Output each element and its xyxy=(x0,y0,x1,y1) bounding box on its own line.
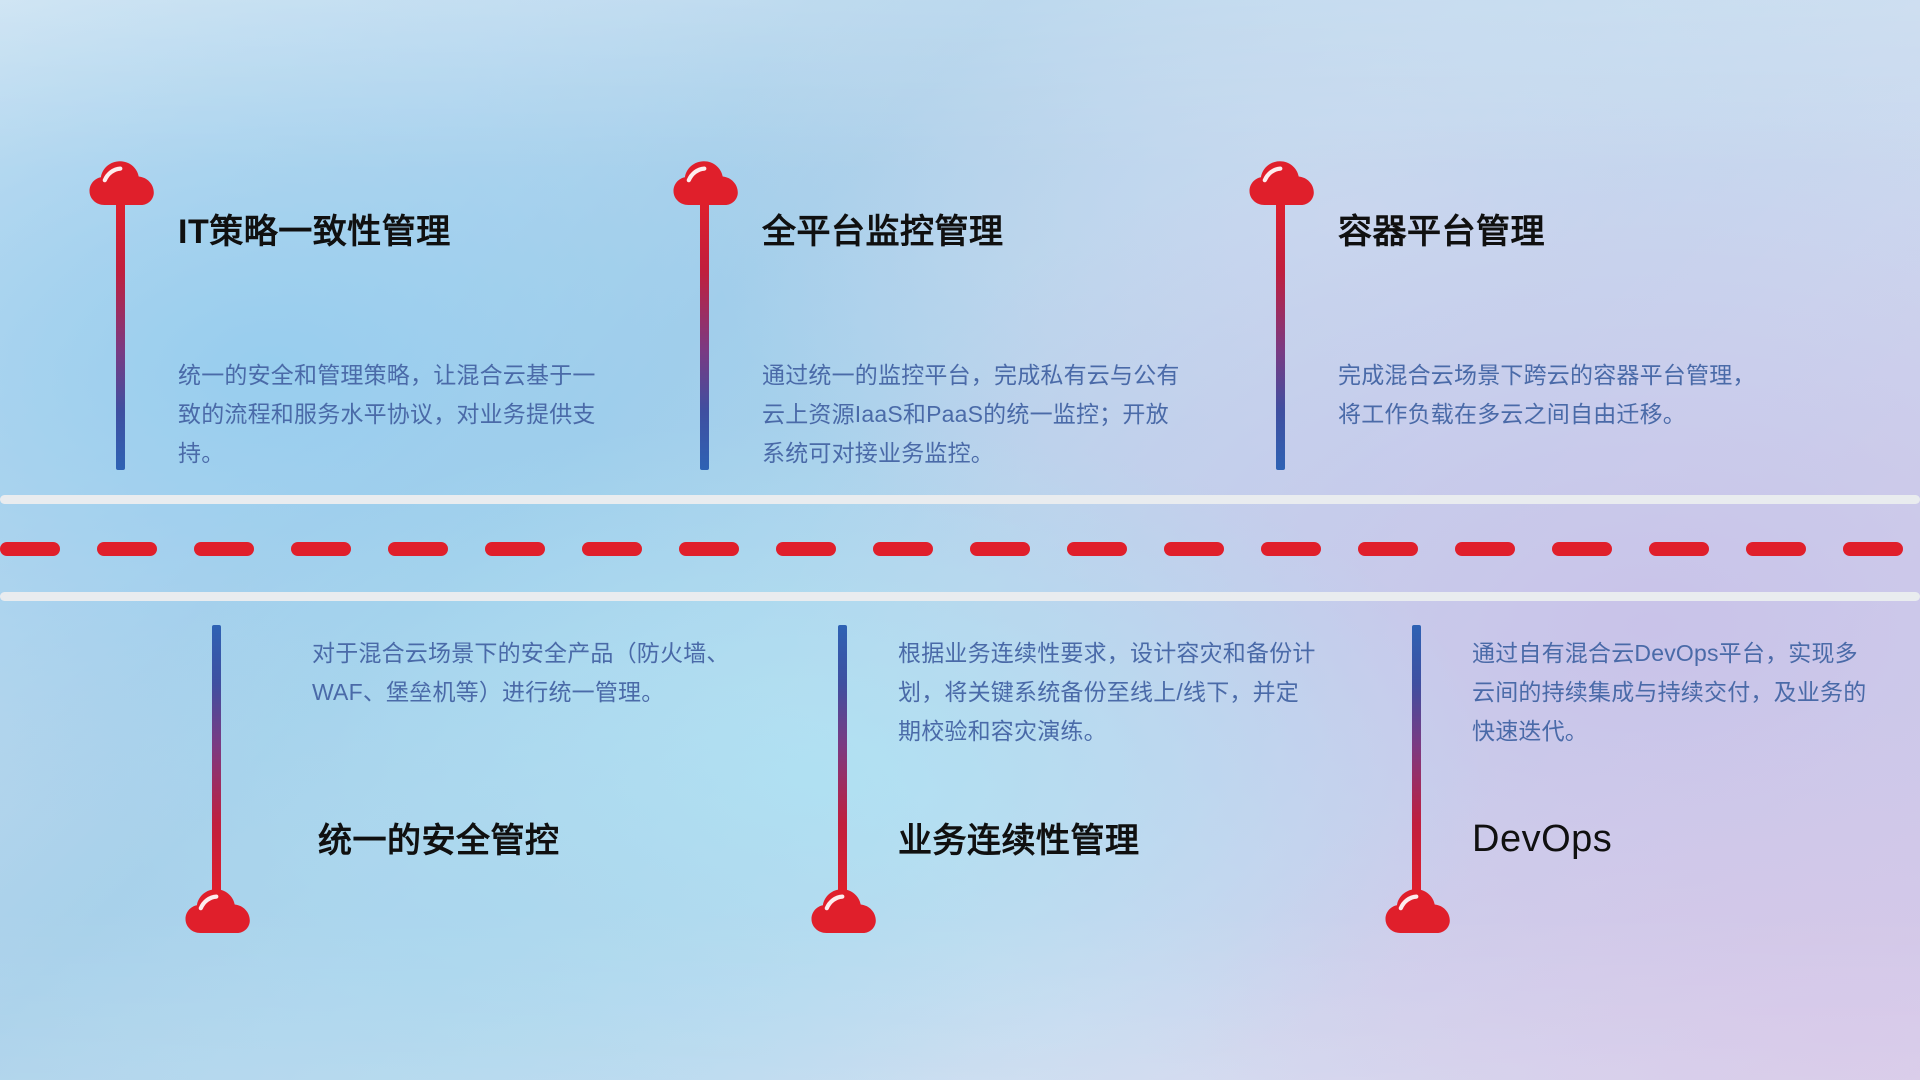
card-heading-bottom-2: 业务连续性管理 xyxy=(898,824,1140,858)
background-glow-bottom-left xyxy=(0,0,1920,1080)
card-heading-bottom-1: 统一的安全管控 xyxy=(318,824,560,858)
road-dash xyxy=(194,542,254,556)
road-edge-top-line xyxy=(0,495,1920,504)
card-heading-top-1: IT策略一致性管理 xyxy=(178,215,451,249)
pin-stem xyxy=(116,202,125,470)
background-glow-right xyxy=(0,0,1920,1080)
road-edge-bottom-line xyxy=(0,592,1920,601)
card-body-bottom-3: 通过自有混合云DevOps平台，实现多云间的持续集成与持续交付，及业务的快速迭代… xyxy=(1472,634,1872,751)
cloud-icon xyxy=(672,160,740,206)
pin-stem xyxy=(1412,625,1421,893)
road-dash xyxy=(97,542,157,556)
cloud-icon xyxy=(184,888,252,934)
cloud-icon xyxy=(1384,888,1452,934)
infographic-canvas: IT策略一致性管理 统一的安全和管理策略，让混合云基于一致的流程和服务水平协议，… xyxy=(0,0,1920,1080)
card-body-bottom-1: 对于混合云场景下的安全产品（防火墙、WAF、堡垒机等）进行统一管理。 xyxy=(312,634,732,712)
road-dash xyxy=(1649,542,1709,556)
road-dash xyxy=(388,542,448,556)
road-dash xyxy=(970,542,1030,556)
background-glow-bottom-right xyxy=(0,0,1920,1080)
background-glow-center xyxy=(0,0,1920,1080)
cloud-icon xyxy=(88,160,156,206)
road-dash xyxy=(291,542,351,556)
card-body-top-3: 完成混合云场景下跨云的容器平台管理，将工作负载在多云之间自由迁移。 xyxy=(1338,356,1763,434)
card-body-top-2: 通过统一的监控平台，完成私有云与公有云上资源IaaS和PaaS的统一监控；开放系… xyxy=(762,356,1187,473)
road-dash xyxy=(679,542,739,556)
background-base-gradient xyxy=(0,0,1920,1080)
road-dash xyxy=(1746,542,1806,556)
road-dash xyxy=(1164,542,1224,556)
road-dash xyxy=(1455,542,1515,556)
card-body-bottom-2: 根据业务连续性要求，设计容灾和备份计划，将关键系统备份至线上/线下，并定期校验和… xyxy=(898,634,1318,751)
road-dash xyxy=(776,542,836,556)
card-heading-top-3: 容器平台管理 xyxy=(1338,215,1545,249)
cloud-icon xyxy=(810,888,878,934)
road-dash xyxy=(485,542,545,556)
road-dash xyxy=(873,542,933,556)
background-vignette xyxy=(0,0,1920,1080)
pin-stem xyxy=(1276,202,1285,470)
road-dash xyxy=(1067,542,1127,556)
background-glow-top-right xyxy=(0,0,1920,1080)
road-dash xyxy=(1843,542,1903,556)
road-dashed-center-line xyxy=(0,542,1920,556)
background-glow-left xyxy=(0,0,1920,1080)
pin-stem xyxy=(700,202,709,470)
road-dash xyxy=(1358,542,1418,556)
cloud-icon xyxy=(1248,160,1316,206)
card-heading-top-2: 全平台监控管理 xyxy=(762,215,1004,249)
road-dash xyxy=(1261,542,1321,556)
road-dash xyxy=(1552,542,1612,556)
road-dash xyxy=(582,542,642,556)
card-body-top-1: 统一的安全和管理策略，让混合云基于一致的流程和服务水平协议，对业务提供支持。 xyxy=(178,356,598,473)
pin-stem xyxy=(838,625,847,893)
card-heading-bottom-3: DevOps xyxy=(1472,820,1612,858)
road-dash xyxy=(0,542,60,556)
pin-stem xyxy=(212,625,221,893)
